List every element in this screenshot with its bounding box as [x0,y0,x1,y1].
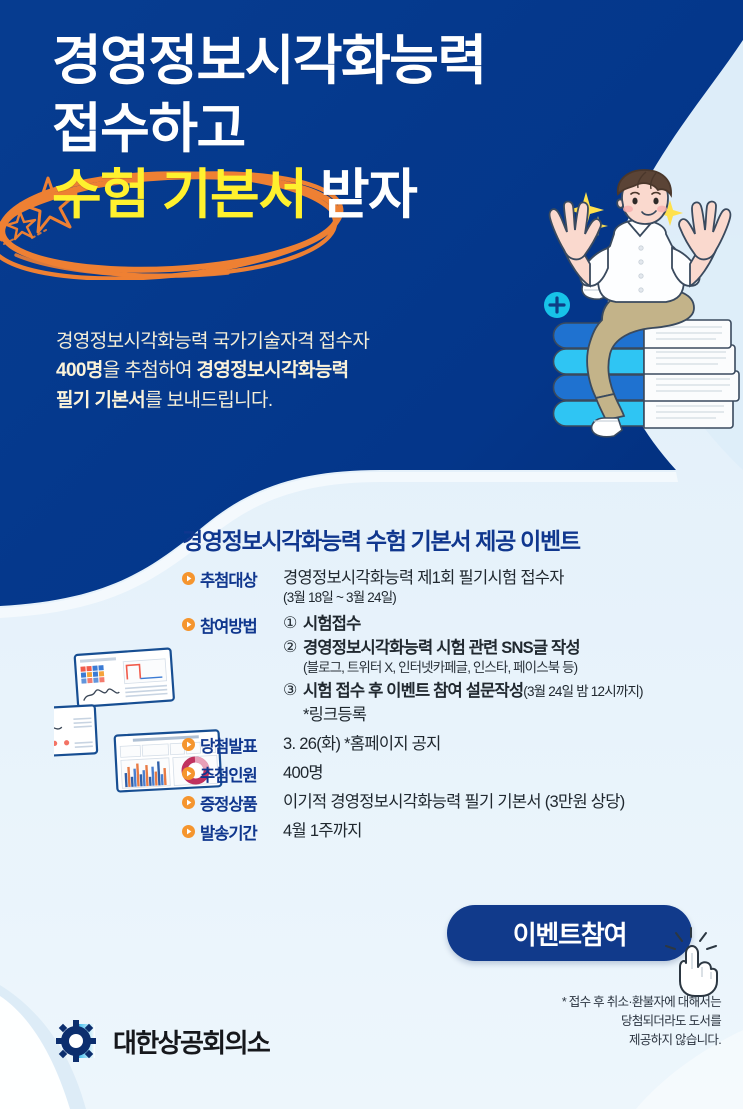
row-label: 발송기간 [200,820,276,844]
disclaimer-line-2: 당첨되더라도 도서를 [481,1012,721,1031]
headline-line-1: 경영정보시각화능력 [52,36,572,88]
step-inline-note: (3월 24일 밤 12시까지) [523,684,643,699]
step-note: (블로그, 트위터 X, 인터넷카페글, 인스타, 페이스북 등) [303,659,722,677]
headline-block: 경영정보시각화능력 접수하고 수험 기본서 받자 [52,36,572,221]
play-circle-icon [182,572,195,585]
event-row-how-to-join: 참여방법 ① 시험접수 ② 경영정보시각화능력 시험 관련 SNS글 작성(블로… [182,613,722,726]
row-body: ① 시험접수 ② 경영정보시각화능력 시험 관련 SNS글 작성(블로그, 트위… [276,613,722,726]
row-body: 400명 [276,762,722,784]
headline-line-2: 접수하고 [52,104,572,156]
join-step-1: ① 시험접수 [283,613,722,635]
headline-line-3: 수험 기본서 받자 [52,170,572,222]
row-label: 추첨인원 [200,762,276,786]
headline-line-3-rest: 받자 [306,165,416,225]
play-circle-icon [182,796,195,809]
row-label: 참여방법 [200,613,276,637]
subdesc-line-3-mid: 를 보내드립니다. [145,390,273,411]
step-text: 시험접수 [303,613,722,635]
step-number: ① [283,613,303,635]
footer-logo: 대한상공회의소 [56,1020,269,1062]
event-details-block: 경영정보시각화능력 수험 기본서 제공 이벤트 추첨대상 경영정보시각화능력 제… [182,522,722,849]
play-circle-icon [182,738,195,751]
row-body: 이기적 경영정보시각화능력 필기 기본서 (3만원 상당) [276,791,722,813]
event-title: 경영정보시각화능력 수험 기본서 제공 이벤트 [182,522,722,556]
step-number: ③ [283,680,303,702]
headline-highlight: 수험 기본서 [52,165,306,225]
subdesc-line-3: 필기 기본서를 보내드립니다. [56,386,369,415]
row-body: 3. 26(화) *홈페이지 공지 [276,733,722,755]
play-circle-icon [182,767,195,780]
subdesc-line-1: 경영정보시각화능력 국가기술자격 접수자 [56,327,369,356]
row-label: 추첨대상 [200,567,276,591]
event-row-gift: 증정상품 이기적 경영정보시각화능력 필기 기본서 (3만원 상당) [182,791,722,815]
row-label: 당첨발표 [200,733,276,757]
disclaimer-line-1: * 접수 후 취소·환불자에 대해서는 [481,993,721,1012]
row-label: 증정상품 [200,791,276,815]
join-step-2: ② 경영정보시각화능력 시험 관련 SNS글 작성(블로그, 트위터 X, 인터… [283,637,722,677]
step-number: ② [283,637,303,659]
event-row-shipping: 발송기간 4월 1주까지 [182,820,722,844]
sub-description: 경영정보시각화능력 국가기술자격 접수자 400명을 추첨하여 경영정보시각화능… [56,327,369,415]
subdesc-line-2-mid: 을 추첨하여 [103,360,197,381]
plus-badge-icon [544,292,570,318]
event-join-button-label: 이벤트참여 [513,915,627,952]
subdesc-line-2: 400명을 추첨하여 경영정보시각화능력 [56,356,369,385]
cta-container: 이벤트참여 [447,905,692,961]
join-link-note: *링크등록 [283,706,366,724]
poster-root: 경영정보시각화능력 접수하고 수험 기본서 받자 경영정보시각화능력 국가기술자… [0,0,743,1109]
row-value: 경영정보시각화능력 제1회 필기시험 접수자 [283,569,564,587]
gear-logo-icon [56,1020,104,1062]
step-main: 경영정보시각화능력 시험 관련 SNS글 작성 [303,639,580,657]
play-circle-icon [182,618,195,631]
row-body: 4월 1주까지 [276,820,722,842]
row-body: 경영정보시각화능력 제1회 필기시험 접수자 (3월 18일 ~ 3월 24일) [276,567,722,608]
play-circle-icon [182,825,195,838]
event-row-winner-count: 추첨인원 400명 [182,762,722,786]
disclaimer-text: * 접수 후 취소·환불자에 대해서는 당첨되더라도 도서를 제공하지 않습니다… [481,993,721,1049]
footer-logo-text: 대한상공회의소 [113,1023,269,1060]
event-row-announcement: 당첨발표 3. 26(화) *홈페이지 공지 [182,733,722,757]
event-row-draw-target: 추첨대상 경영정보시각화능력 제1회 필기시험 접수자 (3월 18일 ~ 3월… [182,567,722,608]
disclaimer-line-3: 제공하지 않습니다. [481,1031,721,1050]
event-join-button[interactable]: 이벤트참여 [447,905,692,961]
join-step-3: ③ 시험 접수 후 이벤트 참여 설문작성(3월 24일 밤 12시까지) [283,680,722,702]
subdesc-emph: 경영정보시각화능력 [197,360,349,381]
step-text: 시험 접수 후 이벤트 참여 설문작성(3월 24일 밤 12시까지) [303,680,722,702]
row-subnote: (3월 18일 ~ 3월 24일) [283,589,722,607]
subdesc-count: 400명 [56,360,103,381]
step-text: 경영정보시각화능력 시험 관련 SNS글 작성(블로그, 트위터 X, 인터넷카… [303,637,722,677]
subdesc-emph-2: 필기 기본서 [56,390,145,411]
step-main: 시험 접수 후 이벤트 참여 설문작성 [303,682,523,700]
